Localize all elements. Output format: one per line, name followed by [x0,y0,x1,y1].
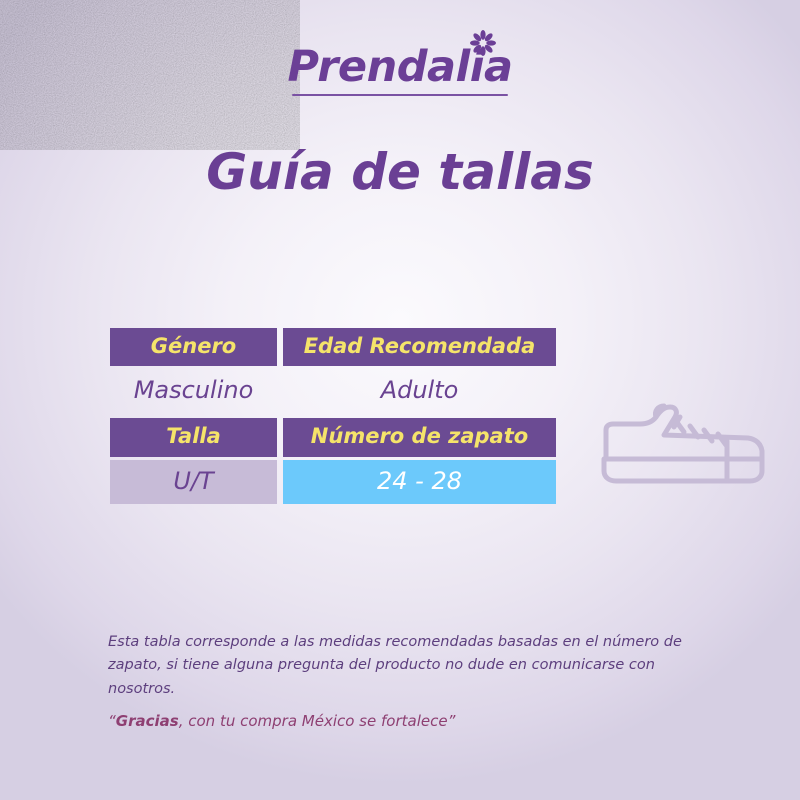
table-row: Talla Número de zapato [110,418,556,456]
table-value-shoe-number: 24 - 28 [283,460,556,504]
size-table: Género Edad Recomendada Masculino Adulto… [110,328,556,507]
sneaker-icon [598,395,770,495]
quote-open: “ [108,712,116,730]
table-row: Masculino Adulto [110,369,556,413]
quote-bold: Gracias [116,712,179,730]
brand-logo: Prendalia [0,46,800,89]
size-guide-poster: Prendalia Guía de tallas Género Ed [0,0,800,800]
disclaimer-text: Esta tabla corresponde a las medidas rec… [108,631,698,701]
table-row: Género Edad Recomendada [110,328,556,366]
table-value-gender: Masculino [110,369,277,413]
table-header-recommended-age: Edad Recomendada [283,328,556,366]
table-value-recommended-age: Adulto [283,369,556,413]
table-value-size: U/T [110,460,277,504]
logo-underline [292,94,509,96]
table-header-shoe-number: Número de zapato [283,418,556,456]
table-row: U/T 24 - 28 [110,460,556,504]
flower-icon [470,30,496,56]
table-header-size: Talla [110,418,277,456]
page-title: Guía de tallas [0,143,800,201]
quote-rest: , con tu compra México se fortalece” [179,712,456,730]
table-header-gender: Género [110,328,277,366]
thank-you-quote: “Gracias, con tu compra México se fortal… [108,712,455,730]
